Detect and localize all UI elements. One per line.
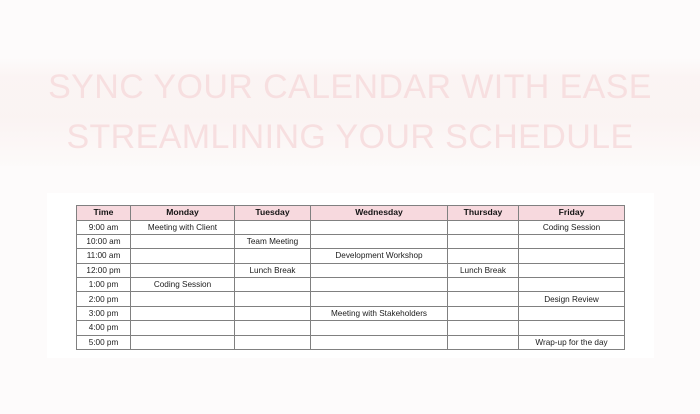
cell-monday-200pm[interactable]: [131, 292, 235, 306]
page-title: SYNC YOUR CALENDAR WITH EASE STREAMLININ…: [0, 62, 700, 162]
cell-friday-1100am[interactable]: [519, 249, 625, 263]
cell-tuesday-1100am[interactable]: [235, 249, 311, 263]
cell-tuesday-1200pm[interactable]: Lunch Break: [235, 263, 311, 277]
time-label-cell[interactable]: 12:00 pm: [77, 263, 131, 277]
column-header-time[interactable]: Time: [77, 206, 131, 221]
cell-friday-300pm[interactable]: [519, 306, 625, 320]
column-header-monday[interactable]: Monday: [131, 206, 235, 221]
cell-tuesday-400pm[interactable]: [235, 321, 311, 335]
time-label-cell[interactable]: 9:00 am: [77, 220, 131, 234]
cell-tuesday-900am[interactable]: [235, 220, 311, 234]
time-label-cell[interactable]: 3:00 pm: [77, 306, 131, 320]
cell-monday-100pm[interactable]: Coding Session: [131, 278, 235, 292]
time-label-cell[interactable]: 10:00 am: [77, 234, 131, 248]
table-row: 9:00 amMeeting with ClientCoding Session: [77, 220, 625, 234]
cell-wednesday-200pm[interactable]: [311, 292, 448, 306]
time-label-cell[interactable]: 5:00 pm: [77, 335, 131, 349]
page-title-line-1: SYNC YOUR CALENDAR WITH EASE: [0, 62, 700, 112]
cell-monday-1100am[interactable]: [131, 249, 235, 263]
table-row: 5:00 pmWrap-up for the day: [77, 335, 625, 349]
cell-wednesday-500pm[interactable]: [311, 335, 448, 349]
cell-thursday-100pm[interactable]: [448, 278, 519, 292]
cell-wednesday-300pm[interactable]: Meeting with Stakeholders: [311, 306, 448, 320]
cell-wednesday-900am[interactable]: [311, 220, 448, 234]
schedule-table-container: Time Monday Tuesday Wednesday Thursday F…: [76, 205, 624, 350]
cell-thursday-900am[interactable]: [448, 220, 519, 234]
cell-friday-100pm[interactable]: [519, 278, 625, 292]
cell-friday-900am[interactable]: Coding Session: [519, 220, 625, 234]
cell-friday-400pm[interactable]: [519, 321, 625, 335]
cell-tuesday-300pm[interactable]: [235, 306, 311, 320]
column-header-tuesday[interactable]: Tuesday: [235, 206, 311, 221]
cell-thursday-500pm[interactable]: [448, 335, 519, 349]
cell-wednesday-1200pm[interactable]: [311, 263, 448, 277]
column-header-friday[interactable]: Friday: [519, 206, 625, 221]
table-row: 11:00 amDevelopment Workshop: [77, 249, 625, 263]
cell-monday-1200pm[interactable]: [131, 263, 235, 277]
cell-friday-500pm[interactable]: Wrap-up for the day: [519, 335, 625, 349]
table-row: 1:00 pmCoding Session: [77, 278, 625, 292]
cell-tuesday-200pm[interactable]: [235, 292, 311, 306]
cell-tuesday-100pm[interactable]: [235, 278, 311, 292]
time-label-cell[interactable]: 2:00 pm: [77, 292, 131, 306]
table-row: 10:00 amTeam Meeting: [77, 234, 625, 248]
cell-wednesday-100pm[interactable]: [311, 278, 448, 292]
cell-monday-500pm[interactable]: [131, 335, 235, 349]
time-label-cell[interactable]: 4:00 pm: [77, 321, 131, 335]
cell-tuesday-1000am[interactable]: Team Meeting: [235, 234, 311, 248]
table-row: 3:00 pmMeeting with Stakeholders: [77, 306, 625, 320]
time-label-cell[interactable]: 1:00 pm: [77, 278, 131, 292]
cell-friday-1000am[interactable]: [519, 234, 625, 248]
cell-thursday-1000am[interactable]: [448, 234, 519, 248]
schedule-table: Time Monday Tuesday Wednesday Thursday F…: [76, 205, 625, 350]
cell-monday-1000am[interactable]: [131, 234, 235, 248]
cell-thursday-400pm[interactable]: [448, 321, 519, 335]
column-header-wednesday[interactable]: Wednesday: [311, 206, 448, 221]
page-title-line-2: STREAMLINING YOUR SCHEDULE: [0, 112, 700, 162]
cell-monday-400pm[interactable]: [131, 321, 235, 335]
time-label-cell[interactable]: 11:00 am: [77, 249, 131, 263]
cell-friday-200pm[interactable]: Design Review: [519, 292, 625, 306]
cell-thursday-300pm[interactable]: [448, 306, 519, 320]
table-row: 12:00 pmLunch BreakLunch Break: [77, 263, 625, 277]
cell-wednesday-1000am[interactable]: [311, 234, 448, 248]
schedule-table-body: 9:00 amMeeting with ClientCoding Session…: [77, 220, 625, 350]
cell-monday-300pm[interactable]: [131, 306, 235, 320]
cell-wednesday-400pm[interactable]: [311, 321, 448, 335]
cell-thursday-1200pm[interactable]: Lunch Break: [448, 263, 519, 277]
table-row: 2:00 pmDesign Review: [77, 292, 625, 306]
cell-friday-1200pm[interactable]: [519, 263, 625, 277]
table-header-row: Time Monday Tuesday Wednesday Thursday F…: [77, 206, 625, 221]
cell-tuesday-500pm[interactable]: [235, 335, 311, 349]
table-row: 4:00 pm: [77, 321, 625, 335]
cell-thursday-200pm[interactable]: [448, 292, 519, 306]
cell-wednesday-1100am[interactable]: Development Workshop: [311, 249, 448, 263]
cell-thursday-1100am[interactable]: [448, 249, 519, 263]
column-header-thursday[interactable]: Thursday: [448, 206, 519, 221]
cell-monday-900am[interactable]: Meeting with Client: [131, 220, 235, 234]
